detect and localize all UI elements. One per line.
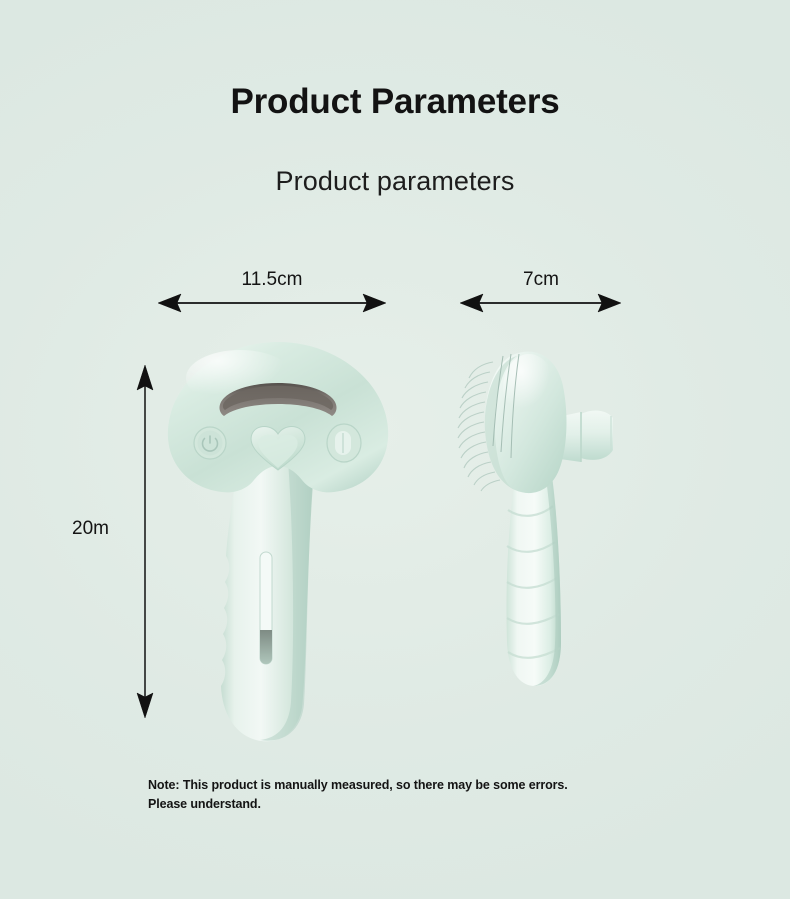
measurement-note-line-1: Note: This product is manually measured,…: [148, 776, 688, 795]
product-image-side-view: [445, 340, 655, 740]
side-view-brush-head: [485, 352, 567, 493]
handle-slot-insert: [260, 630, 272, 664]
front-view-handle: [221, 450, 316, 741]
product-image-front-view: [148, 330, 408, 750]
double-arrow-horizontal-icon-right: [460, 294, 621, 312]
oval-button-icon[interactable]: [327, 424, 361, 462]
measurement-note-line-2: Please understand.: [148, 795, 688, 814]
dimension-label-height: 20m: [72, 518, 134, 540]
power-button-icon[interactable]: [194, 427, 226, 459]
side-view-handle: [506, 468, 561, 686]
double-arrow-horizontal-icon-left: [158, 294, 386, 312]
page-subtitle: Product parameters: [0, 166, 790, 197]
dimension-label-width-right: 7cm: [460, 269, 622, 291]
dimension-label-width-left: 11.5cm: [158, 269, 386, 291]
product-parameters-page: Product Parameters Product parameters 11…: [0, 0, 790, 899]
page-title: Product Parameters: [0, 82, 790, 122]
measurement-note: Note: This product is manually measured,…: [148, 776, 688, 814]
